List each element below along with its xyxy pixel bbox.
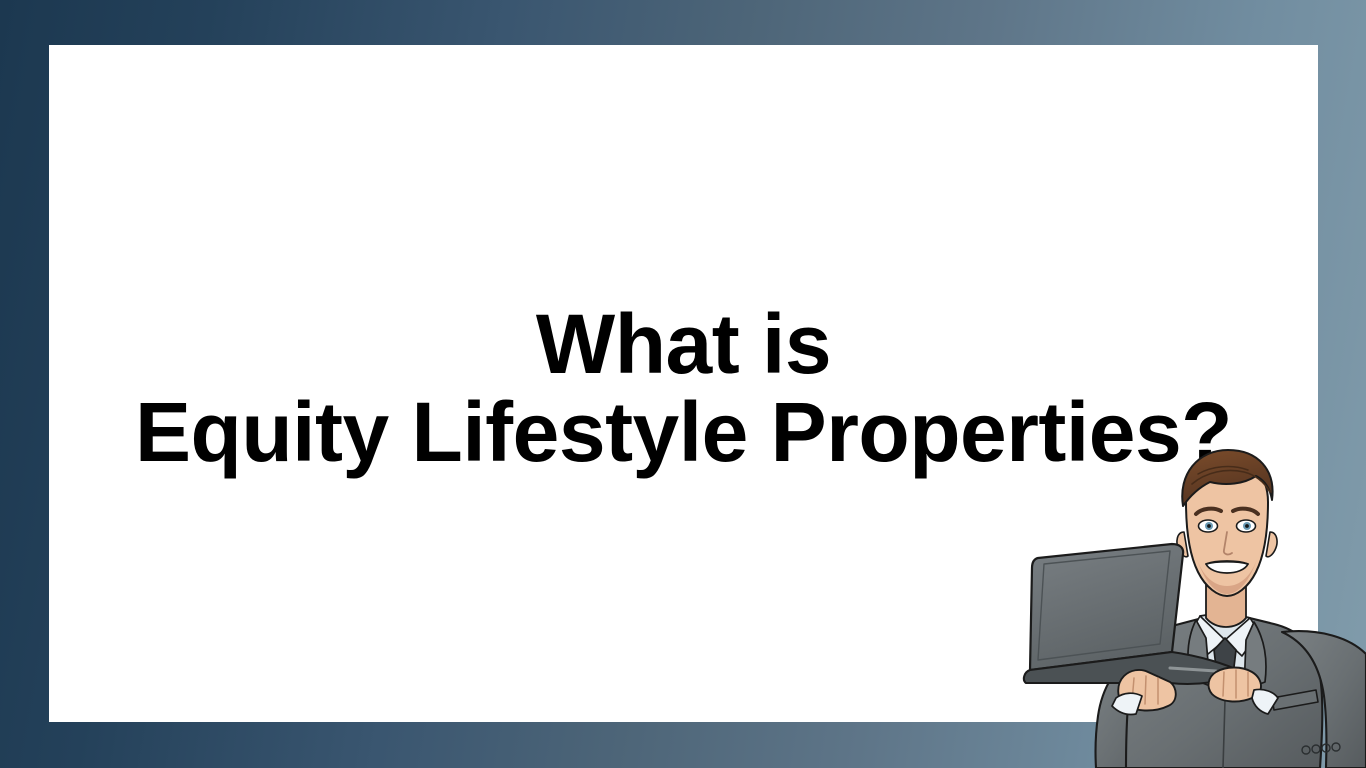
ear-right	[1266, 532, 1277, 557]
slide-canvas: What is Equity Lifestyle Properties?	[0, 0, 1366, 768]
businessman-with-laptop-illustration	[1020, 440, 1366, 768]
